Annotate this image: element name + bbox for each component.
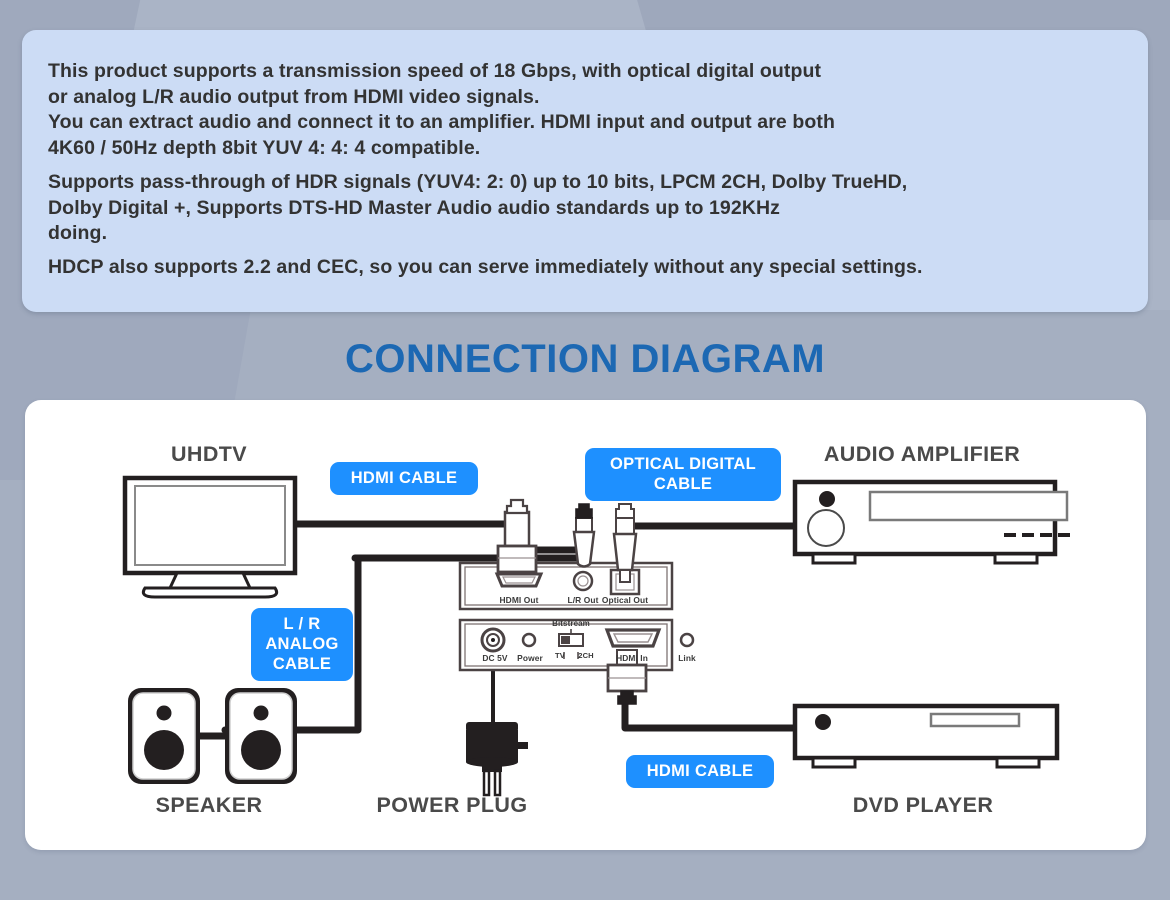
port-hdmi-in (607, 630, 659, 646)
port-power-led (523, 634, 535, 646)
port-label-switch-2ch: 2CH (578, 651, 594, 660)
port-lr-out (574, 572, 592, 590)
connection-diagram-panel: UHDTV AUDIO AMPLIFIER SPEAKER POWER PLUG… (25, 400, 1146, 850)
power-plug-device (466, 722, 528, 795)
port-label-lr-out: L/R Out (568, 595, 599, 605)
port-label-dc5v: DC 5V (482, 653, 507, 663)
plug-lr-out (574, 504, 594, 567)
port-label-hdmi-in: HDMI In (616, 653, 648, 663)
caption-uhdtv: UHDTV (171, 442, 247, 467)
caption-power-plug: POWER PLUG (377, 793, 528, 818)
plug-hdmi-out (498, 500, 536, 572)
port-dc5v (482, 629, 504, 651)
speaker-left (128, 688, 200, 784)
cable-label-lr-analog: L / R ANALOG CABLE (251, 608, 353, 681)
cable-label-hdmi-bottom: HDMI CABLE (626, 755, 774, 788)
port-label-link: Link (678, 653, 696, 663)
audio-amplifier-device (795, 482, 1070, 563)
port-label-power: Power (517, 653, 543, 663)
port-label-switch-tv: TV (555, 651, 565, 660)
cable-hdmi-dvd (625, 700, 795, 728)
plug-optical-out (614, 504, 636, 582)
port-label-optical-out: Optical Out (602, 595, 648, 605)
intro-text-card: This product supports a transmission spe… (22, 30, 1148, 312)
section-title: CONNECTION DIAGRAM (0, 337, 1170, 382)
caption-audio-amplifier: AUDIO AMPLIFIER (824, 442, 1020, 467)
intro-paragraph-2: Supports pass-through of HDR signals (YU… (48, 170, 907, 247)
cable-label-hdmi-top: HDMI CABLE (330, 462, 478, 495)
port-label-bitstream: Bitstream (552, 619, 590, 628)
caption-dvd-player: DVD PLAYER (853, 793, 994, 818)
uhdtv-device (125, 478, 295, 597)
speaker-pair (128, 688, 297, 784)
port-label-hdmi-out: HDMI Out (500, 595, 539, 605)
intro-paragraph-3: HDCP also supports 2.2 and CEC, so you c… (48, 255, 922, 281)
poster-root: This product supports a transmission spe… (0, 0, 1170, 900)
port-hdmi-out (497, 574, 541, 586)
dvd-player-device (795, 706, 1057, 767)
intro-paragraph-1: This product supports a transmission spe… (48, 59, 835, 161)
port-link-led (681, 634, 693, 646)
cable-hdmi-tv (293, 524, 517, 545)
cable-label-optical-digital: OPTICAL DIGITAL CABLE (585, 448, 781, 501)
cable-optical (625, 526, 795, 552)
caption-speaker: SPEAKER (156, 793, 263, 818)
speaker-right (225, 688, 297, 784)
